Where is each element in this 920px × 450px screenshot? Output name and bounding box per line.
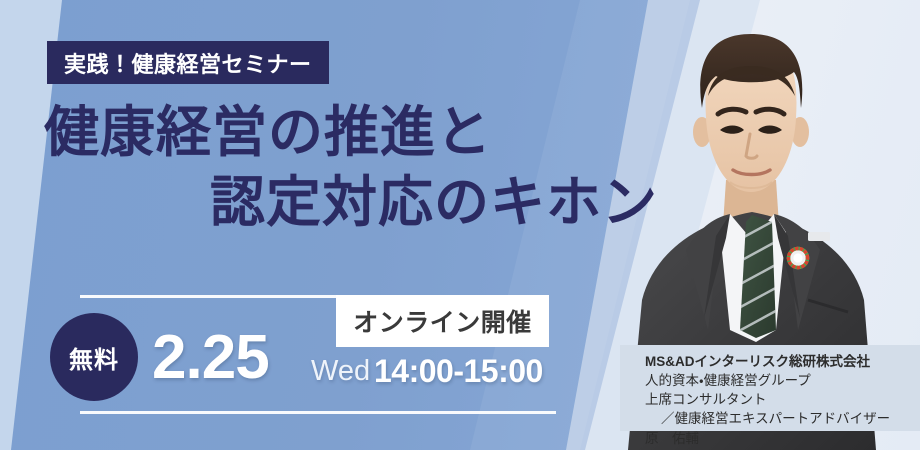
free-badge: 無料 [50, 313, 138, 401]
divider-top [80, 295, 338, 298]
speaker-certification: ／健康経営エキスパートアドバイザー [645, 409, 920, 428]
headline-line-1: 健康経営の推進と [0, 98, 660, 168]
event-date: 2.25 [152, 327, 269, 389]
speaker-department: 人的資本・健康経営グループ [645, 371, 920, 390]
speaker-name: 原 佑輔 [645, 429, 920, 448]
page-title: 健康経営の推進と 認定対応のキホン [0, 98, 660, 238]
speaker-caption: MS&ADインターリスク総研株式会社 人的資本・健康経営グループ 上席コンサルタ… [620, 345, 920, 431]
headline-line-2: 認定対応のキホン [0, 168, 660, 238]
speaker-organization: MS&ADインターリスク総研株式会社 [645, 352, 920, 371]
event-day-of-week: Wed [311, 357, 370, 386]
seminar-banner: 実践！健康経営セミナー 健康経営の推進と 認定対応のキホン 無料 2.25 We… [0, 0, 920, 450]
online-format-badge: オンライン開催 [336, 295, 549, 347]
speaker-title: 上席コンサルタント [645, 390, 920, 409]
divider-bottom [80, 411, 556, 414]
kicker-badge: 実践！健康経営セミナー [47, 41, 329, 84]
event-time: 14:00-15:00 [374, 355, 543, 387]
